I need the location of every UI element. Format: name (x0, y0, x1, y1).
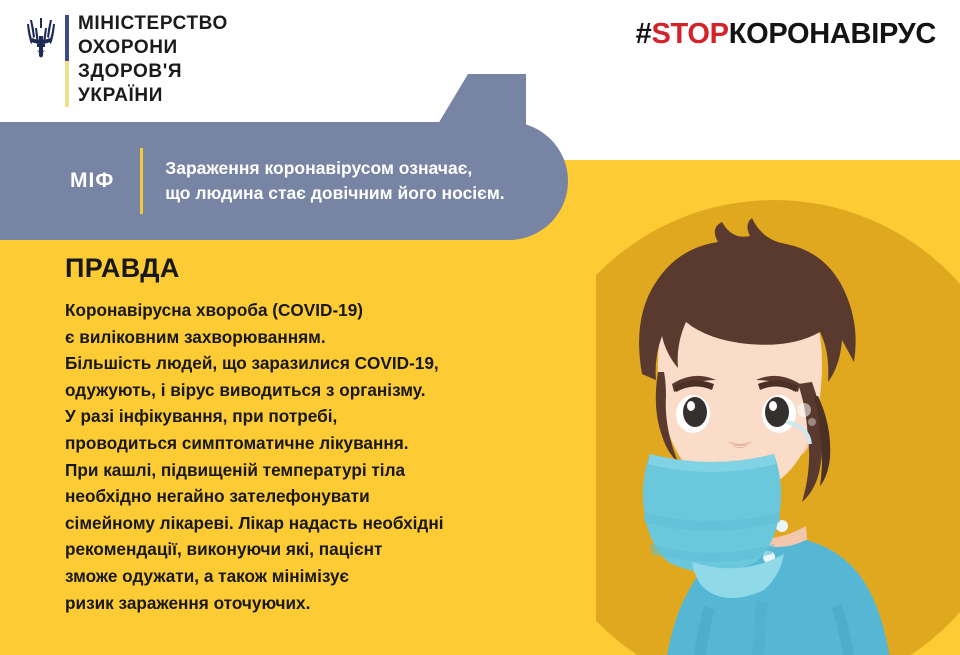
myth-statement: Зараження коронавірусом означає, що люди… (165, 156, 504, 206)
truth-line-10: рекомендації, виконуючи які, пацієнт (65, 536, 535, 563)
truth-line-2: є виліковним захворюванням. (65, 324, 535, 351)
ministry-name: МІНІСТЕРСТВО ОХОРОНИ ЗДОРОВ'Я УКРАЇНИ (78, 12, 228, 108)
ministry-logo: МІНІСТЕРСТВО ОХОРОНИ ЗДОРОВ'Я УКРАЇНИ (26, 12, 228, 108)
myth-label: МІФ (70, 169, 114, 193)
ministry-line-1: МІНІСТЕРСТВО (78, 12, 228, 36)
truth-line-11: зможе одужати, а також мінімізує (65, 563, 535, 590)
infographic-poster: МІНІСТЕРСТВО ОХОРОНИ ЗДОРОВ'Я УКРАЇНИ #S… (0, 0, 960, 655)
flag-divider (65, 15, 69, 107)
truth-heading: ПРАВДА (65, 253, 180, 284)
truth-line-9: сімейному лікареві. Лікар надасть необхі… (65, 510, 535, 537)
truth-line-7: При кашлі, підвищеній температурі тіла (65, 457, 535, 484)
truth-line-1: Коронавірусна хвороба (COVID-19) (65, 297, 535, 324)
truth-line-4: одужують, і вірус виводиться з організму… (65, 377, 535, 404)
campaign-hashtag: #STOPКОРОНАВІРУС (636, 18, 936, 51)
truth-line-6: проводиться симптоматичне лікування. (65, 430, 535, 457)
hashtag-symbol: # (636, 18, 652, 50)
truth-line-8: необхідно негайно зателефонувати (65, 483, 535, 510)
ministry-line-4: УКРАЇНИ (78, 84, 228, 108)
truth-line-3: Більшість людей, що заразилися COVID-19, (65, 350, 535, 377)
myth-speech-bubble: МІФ Зараження коронавірусом означає, що … (0, 122, 568, 240)
boy-wearing-face-mask-illustration (596, 196, 960, 655)
truth-line-12: ризик зараження оточуючих. (65, 590, 535, 617)
ukraine-trident-icon (26, 16, 56, 58)
hashtag-rest: КОРОНАВІРУС (729, 18, 936, 50)
ministry-line-3: ЗДОРОВ'Я (78, 60, 228, 84)
speech-bubble-tail (438, 74, 468, 124)
truth-line-5: У разі інфікування, при потребі, (65, 403, 535, 430)
speech-bubble-tail-block (468, 74, 526, 126)
hashtag-highlight: STOP (651, 18, 728, 50)
truth-body: Коронавірусна хвороба (COVID-19) є вилік… (65, 297, 535, 616)
myth-divider (140, 148, 143, 214)
myth-line-2: що людина стає довічним його носієм. (165, 181, 504, 206)
ministry-line-2: ОХОРОНИ (78, 36, 228, 60)
myth-line-1: Зараження коронавірусом означає, (165, 156, 504, 181)
